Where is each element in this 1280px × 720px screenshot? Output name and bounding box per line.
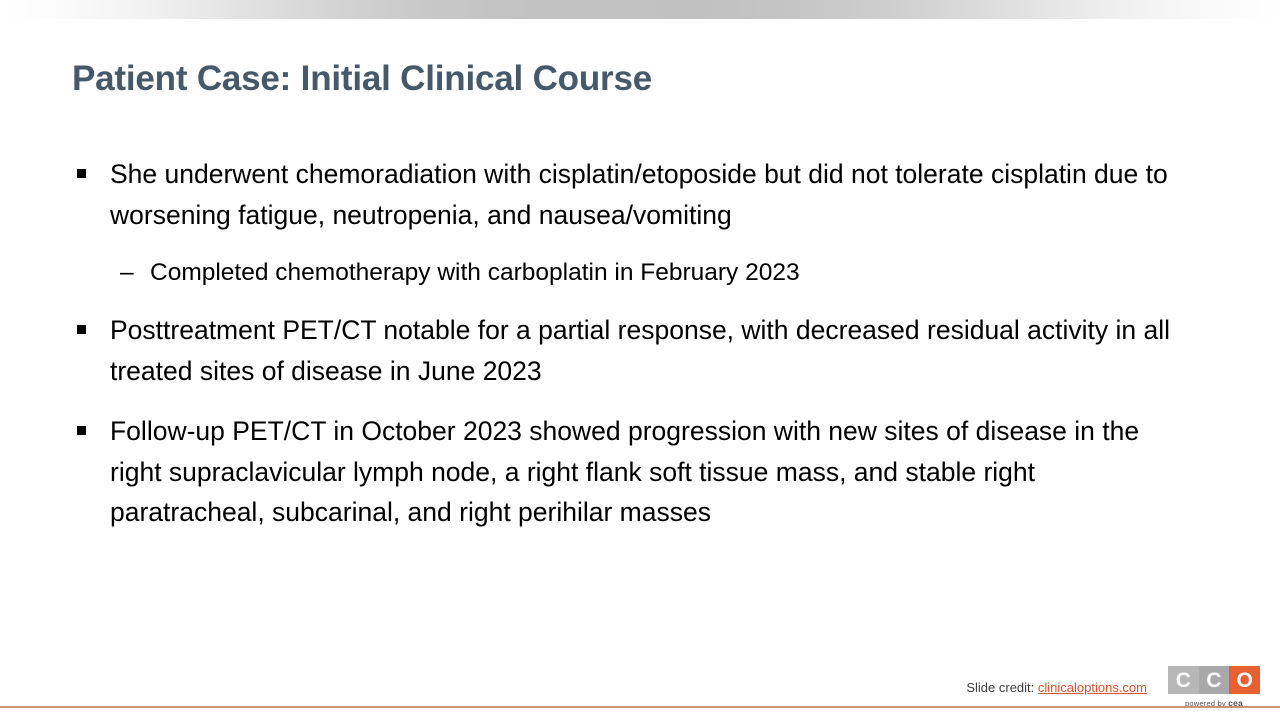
en-dash-bullet-icon: – (120, 253, 134, 293)
slide-canvas: Patient Case: Initial Clinical Course Sh… (0, 19, 1280, 720)
square-bullet-icon (77, 169, 86, 178)
slide-credit-label: Slide credit: (966, 680, 1038, 695)
top-gradient-banner (0, 0, 1280, 19)
footer-divider-rule (0, 706, 1280, 708)
clinicaloptions-link[interactable]: clinicaloptions.com (1038, 680, 1147, 695)
sub-bullet-item-1: – Completed chemotherapy with carboplati… (72, 253, 1197, 293)
square-bullet-icon (77, 325, 86, 334)
cco-logo-letter-c1: C (1168, 666, 1199, 694)
bullet-item-2-text: Posttreatment PET/CT notable for a parti… (110, 315, 1170, 386)
page-title: Patient Case: Initial Clinical Course (72, 59, 1202, 99)
slide-credit: Slide credit: clinicaloptions.com (966, 680, 1147, 695)
bullet-item-3: Follow-up PET/CT in October 2023 showed … (72, 411, 1197, 533)
bullet-item-2: Posttreatment PET/CT notable for a parti… (72, 310, 1197, 391)
slide-content-body: She underwent chemoradiation with cispla… (72, 154, 1197, 536)
bullet-item-3-text: Follow-up PET/CT in October 2023 showed … (110, 416, 1139, 527)
cco-logo-letter-c2: C (1199, 666, 1230, 694)
cco-logo: C C O powered by cea (1168, 666, 1260, 708)
bullet-item-1: She underwent chemoradiation with cispla… (72, 154, 1197, 235)
bullet-item-1-text: She underwent chemoradiation with cispla… (110, 159, 1168, 230)
square-bullet-icon (77, 426, 86, 435)
cco-logo-letter-o: O (1229, 666, 1260, 694)
cco-logo-squares: C C O (1168, 666, 1260, 694)
sub-bullet-item-1-text: Completed chemotherapy with carboplatin … (150, 259, 800, 286)
